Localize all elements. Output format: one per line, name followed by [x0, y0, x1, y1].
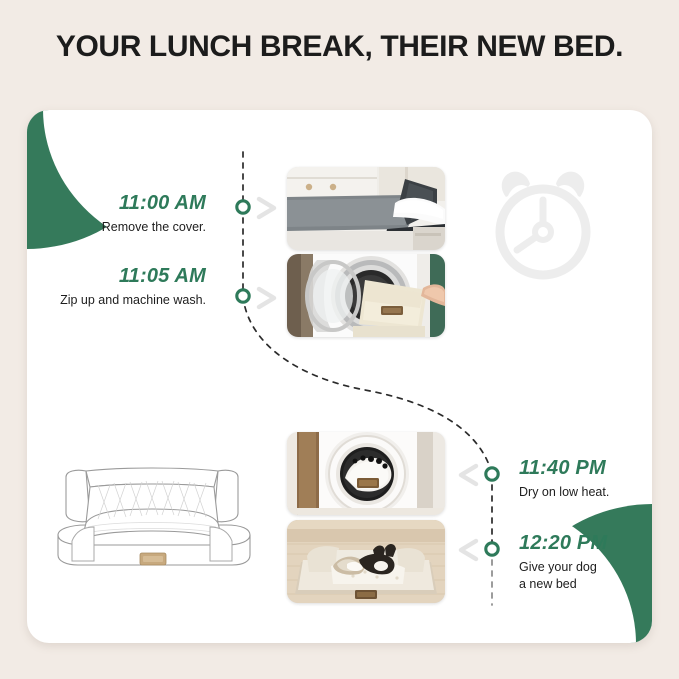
step-3-time: 11:40 PM: [519, 457, 659, 480]
infographic-page: YOUR LUNCH BREAK, THEIR NEW BED.: [0, 0, 679, 679]
step-2-caption: Zip up and machine wash.: [40, 292, 206, 309]
step-1-caption: Remove the cover.: [60, 219, 206, 236]
step-3-caption: Dry on low heat.: [519, 484, 659, 501]
step-2-text: 11:05 AM Zip up and machine wash.: [40, 265, 206, 309]
step-1-text: 11:00 AM Remove the cover.: [60, 192, 206, 236]
photo-new-bed: [287, 520, 445, 603]
photo-dry-low-heat: [287, 432, 445, 515]
step-2-time: 11:05 AM: [40, 265, 206, 288]
step-3-text: 11:40 PM Dry on low heat.: [519, 457, 659, 501]
step-4-time: 12:20 PM: [519, 532, 659, 555]
step-4-text: 12:20 PM Give your dog a new bed: [519, 532, 659, 592]
page-title: YOUR LUNCH BREAK, THEIR NEW BED.: [0, 30, 679, 64]
step-4-caption: Give your dog a new bed: [519, 559, 659, 592]
alarm-clock-icon: [484, 163, 602, 283]
photo-remove-cover: [287, 167, 445, 250]
bolster-dog-bed-lineart: [36, 443, 268, 579]
photo-machine-wash: [287, 254, 445, 337]
step-1-time: 11:00 AM: [60, 192, 206, 215]
